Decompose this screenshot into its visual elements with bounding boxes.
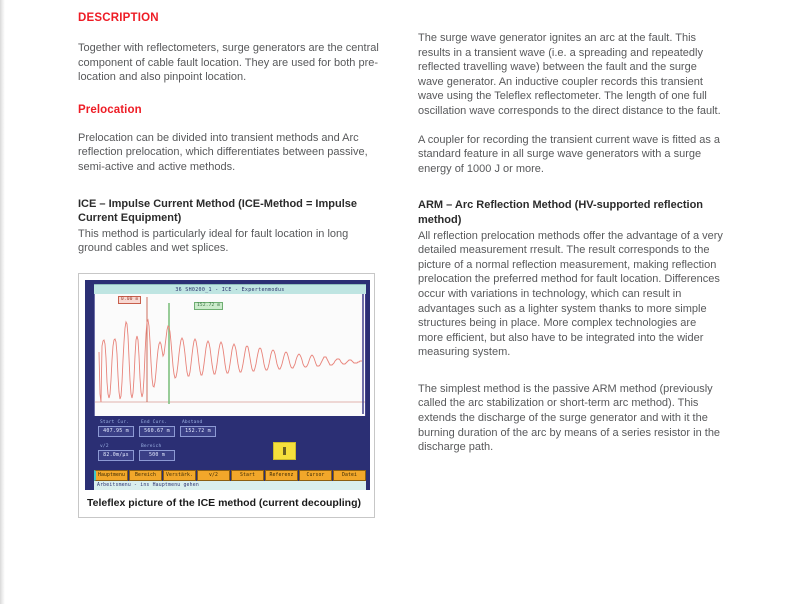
left-column: DESCRIPTION Together with reflectometers… xyxy=(78,12,383,518)
figure-teleflex: 36 SH0200_1 - ICE - Expertenmodus xyxy=(78,273,375,518)
field-end-cursor: End Curs. 560.67 m xyxy=(139,420,175,437)
field-distance: Abstand 152.72 m xyxy=(180,420,216,437)
ice-paragraph: This method is particularly ideal for fa… xyxy=(78,227,383,256)
softkey-start[interactable]: Start xyxy=(231,470,264,481)
field-value[interactable]: 500 m xyxy=(139,450,175,461)
waveform-svg xyxy=(95,294,365,414)
spacer xyxy=(418,374,723,382)
softkey-referenz[interactable]: Referenz xyxy=(265,470,298,481)
arm-heading: ARM – Arc Reflection Method (HV-supporte… xyxy=(418,198,723,227)
prelocation-heading: Prelocation xyxy=(78,104,383,116)
spacer xyxy=(418,12,723,31)
softkey-cursor[interactable]: Cursor xyxy=(299,470,332,481)
screenshot-softkey-bar: Hauptmenu Bereich Verstärk. v/2 Start Re… xyxy=(94,470,366,481)
intro-paragraph: Together with reflectometers, surge gene… xyxy=(78,41,383,85)
field-value[interactable]: 152.72 m xyxy=(180,426,216,437)
start-cursor-label[interactable]: 0.00 m xyxy=(118,296,141,304)
waveform-plot xyxy=(94,294,366,416)
field-value[interactable]: 407.95 m xyxy=(98,426,134,437)
field-range: Bereich 500 m xyxy=(139,444,175,461)
surge-wave-paragraph: The surge wave generator ignites an arc … xyxy=(418,31,723,119)
gain-indicator[interactable] xyxy=(273,442,296,460)
figure-caption: Teleflex picture of the ICE method (curr… xyxy=(85,490,368,512)
softkey-v2[interactable]: v/2 xyxy=(197,470,230,481)
right-column: The surge wave generator ignites an arc … xyxy=(418,12,723,518)
field-value[interactable]: 560.67 m xyxy=(139,426,175,437)
signal-trace xyxy=(99,320,362,402)
end-cursor-label[interactable]: 152.72 m xyxy=(194,302,223,310)
passive-arm-paragraph: The simplest method is the passive ARM m… xyxy=(418,382,723,455)
arm-paragraph: All reflection prelocation methods offer… xyxy=(418,229,723,360)
page-edge-shadow xyxy=(0,0,5,604)
document-page: DESCRIPTION Together with reflectometers… xyxy=(0,0,793,604)
page-title: DESCRIPTION xyxy=(78,12,383,24)
ice-heading: ICE – Impulse Current Method (ICE-Method… xyxy=(78,197,383,226)
setting-fields: v/2 82.0m/µs Bereich 500 m xyxy=(98,444,175,461)
teleflex-screenshot: 36 SH0200_1 - ICE - Expertenmodus xyxy=(85,280,370,490)
prelocation-paragraph: Prelocation can be divided into transien… xyxy=(78,131,383,175)
screenshot-control-panel: Start Cur. 407.95 m End Curs. 560.67 m A… xyxy=(94,416,366,471)
coupler-paragraph: A coupler for recording the transient cu… xyxy=(418,133,723,177)
softkey-datei[interactable]: Datei xyxy=(333,470,366,481)
measurement-fields: Start Cur. 407.95 m End Curs. 560.67 m A… xyxy=(98,420,216,437)
field-start-cursor: Start Cur. 407.95 m xyxy=(98,420,134,437)
field-velocity: v/2 82.0m/µs xyxy=(98,444,134,461)
gain-marker-icon xyxy=(283,447,286,455)
field-value[interactable]: 82.0m/µs xyxy=(98,450,134,461)
softkey-bereich[interactable]: Bereich xyxy=(129,470,162,481)
softkey-hauptmenu[interactable]: Hauptmenu xyxy=(94,470,128,481)
spacer xyxy=(78,189,383,197)
screenshot-status-bar: Arbeitsmenu - ins Hauptmenu gehen xyxy=(94,481,366,490)
spacer xyxy=(418,190,723,198)
two-column-layout: DESCRIPTION Together with reflectometers… xyxy=(78,12,723,518)
softkey-verstaerkung[interactable]: Verstärk. xyxy=(163,470,196,481)
